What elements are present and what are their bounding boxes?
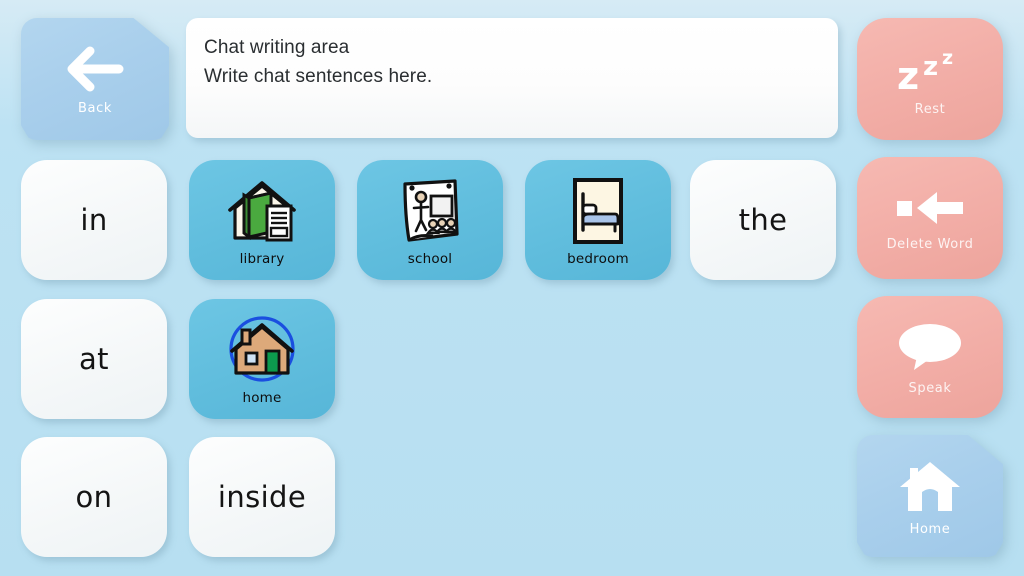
symbol-tile-home[interactable]: home [189,299,335,419]
speak-button[interactable]: Speak [857,296,1003,418]
word-tile-label: the [739,203,788,237]
speech-bubble-icon [893,322,967,372]
back-button-label: Back [78,101,112,116]
symbol-tile-label: library [240,251,285,267]
word-tile-label: at [79,342,109,376]
zzz-icon: z z z [891,45,969,93]
symbol-tile-label: school [408,251,452,267]
house-color-icon [225,313,299,387]
symbol-tile-school[interactable]: school [357,160,503,280]
word-tile-at[interactable]: at [21,299,167,419]
home-button-label: Home [910,522,951,537]
word-tile-label: on [76,480,113,514]
word-tile-the[interactable]: the [690,160,836,280]
library-icon [225,174,299,248]
symbol-tile-library[interactable]: library [189,160,335,280]
word-tile-label: inside [218,480,306,514]
word-tile-inside[interactable]: inside [189,437,335,557]
rest-button[interactable]: z z z Rest [857,18,1003,140]
bedroom-icon [561,174,635,248]
symbol-tile-bedroom[interactable]: bedroom [525,160,671,280]
delete-word-icon [891,188,969,228]
back-button[interactable]: Back [21,18,169,140]
symbol-tile-label: bedroom [567,251,629,267]
rest-button-label: Rest [915,102,946,117]
word-tile-in[interactable]: in [21,160,167,280]
school-icon [393,174,467,248]
word-tile-label: in [80,203,107,237]
chat-writing-area[interactable]: Chat writing area Write chat sentences h… [186,18,838,138]
svg-text:z: z [942,47,953,69]
chat-placeholder: Write chat sentences here. [204,63,820,92]
delete-word-button[interactable]: Delete Word [857,157,1003,279]
symbol-tile-label: home [242,390,281,406]
svg-text:z: z [897,54,919,93]
svg-text:z: z [923,52,938,82]
word-tile-on[interactable]: on [21,437,167,557]
delete-word-button-label: Delete Word [887,237,974,252]
chat-title: Chat writing area [204,34,820,63]
home-button[interactable]: Home [857,435,1003,557]
house-icon [897,459,963,513]
speak-button-label: Speak [909,381,952,396]
arrow-left-icon [64,46,126,92]
